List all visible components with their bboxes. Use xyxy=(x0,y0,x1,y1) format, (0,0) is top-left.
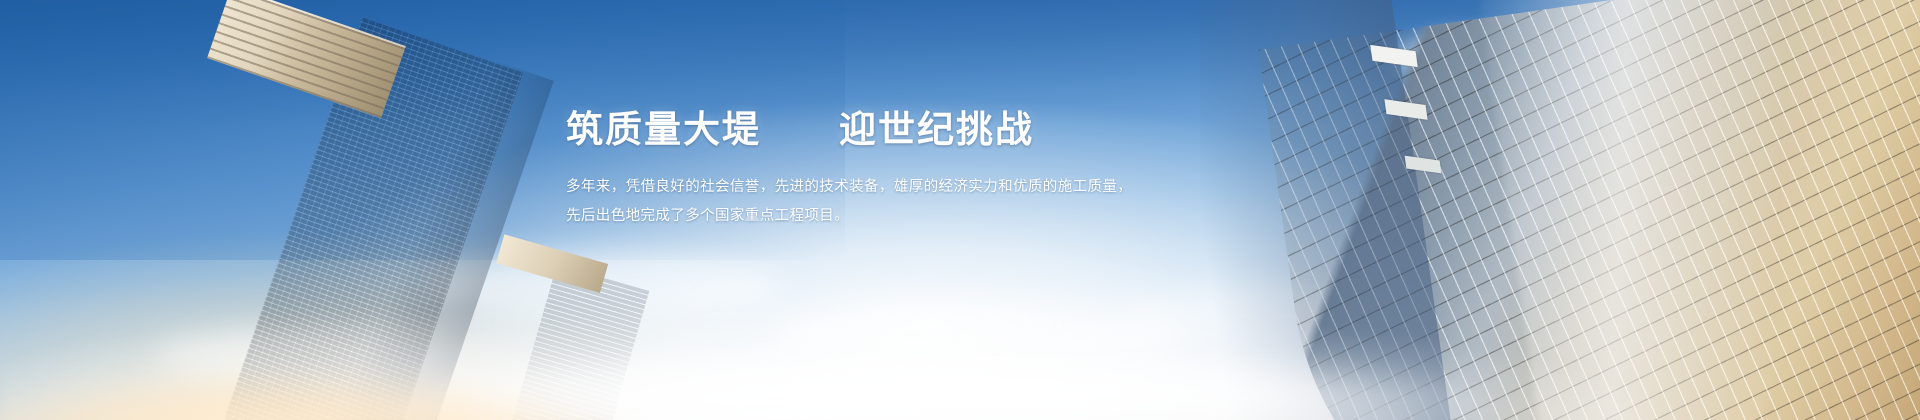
hero-headline: 筑质量大堤 迎世纪挑战 xyxy=(566,108,1126,152)
hero-subtitle: 多年来，凭借良好的社会信誉，先进的技术装备，雄厚的经济实力和优质的施工质量， 先… xyxy=(566,173,1126,232)
hero-banner: 筑质量大堤 迎世纪挑战 多年来，凭借良好的社会信誉，先进的技术装备，雄厚的经济实… xyxy=(0,0,1920,420)
hero-subtitle-line-1: 多年来，凭借良好的社会信誉，先进的技术装备，雄厚的经济实力和优质的施工质量， xyxy=(566,173,1126,203)
cloud-band-warm xyxy=(0,300,806,420)
hero-copy: 筑质量大堤 迎世纪挑战 多年来，凭借良好的社会信誉，先进的技术装备，雄厚的经济实… xyxy=(566,108,1126,232)
hero-subtitle-line-2: 先后出色地完成了多个国家重点工程项目。 xyxy=(566,202,1126,232)
